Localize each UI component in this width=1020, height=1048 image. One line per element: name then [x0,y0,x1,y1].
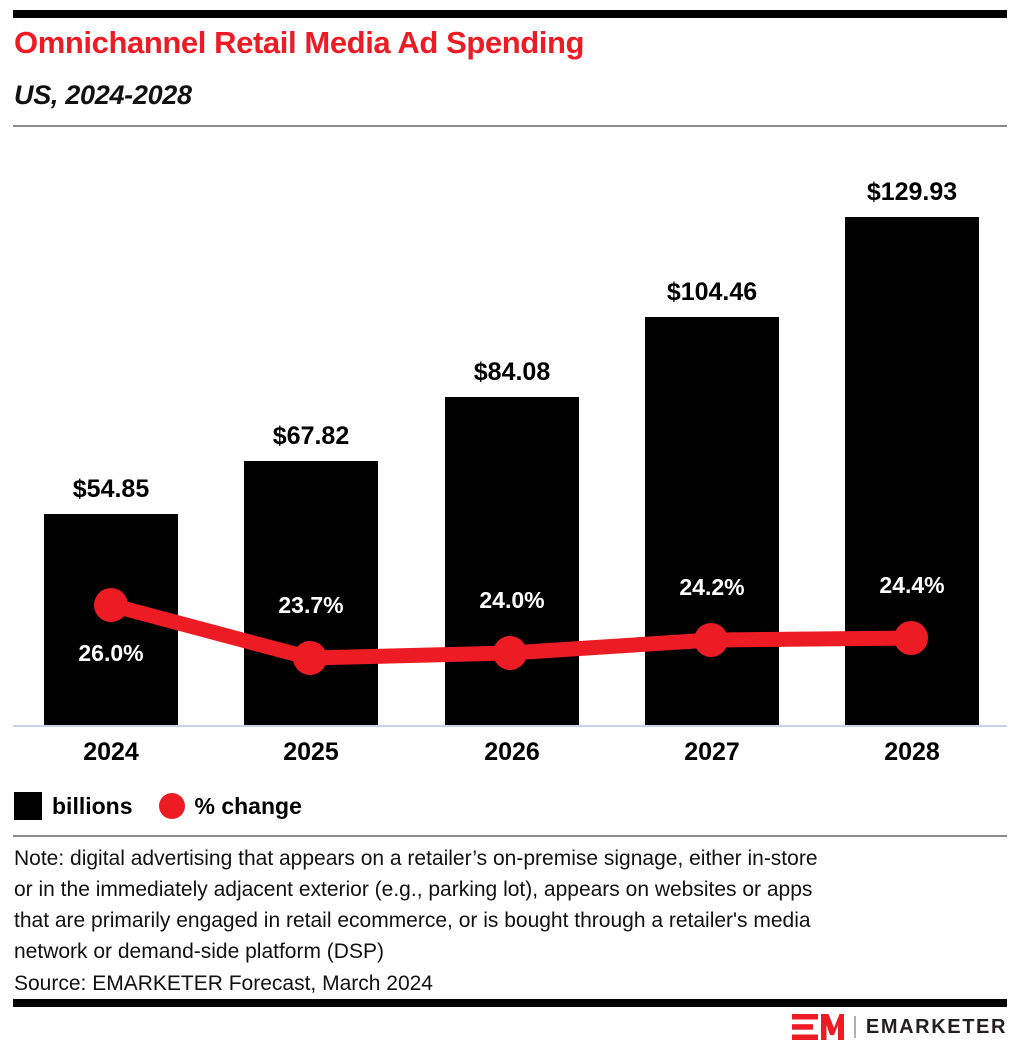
pct-label-2027: 24.2% [645,574,779,601]
x-tick-2028: 2028 [845,738,979,767]
pct-label-2028: 24.4% [845,572,979,599]
chart-plot-area: $54.85 $67.82 $84.08 $104.46 $129.93 26.… [0,150,1020,730]
pct-label-2025: 23.7% [244,592,378,619]
bar-2024 [44,514,178,726]
x-tick-2026: 2026 [445,738,579,767]
note-line-3: that are primarily engaged in retail eco… [14,905,1004,936]
bar-value-2026: $84.08 [445,358,579,387]
footer-divider [13,999,1007,1007]
legend-square-icon [14,792,42,820]
bar-2028 [845,217,979,726]
emarketer-brand: EMARKETER [792,1014,1007,1040]
bar-value-2025: $67.82 [244,422,378,451]
header-divider [13,125,1007,127]
source-line: Source: EMARKETER Forecast, March 2024 [14,968,1004,999]
chart-page: Omnichannel Retail Media Ad Spending US,… [0,0,1020,1048]
x-axis-line [13,725,1007,727]
brand-divider [854,1016,856,1038]
bar-2026 [445,397,579,726]
bar-value-2027: $104.46 [635,278,789,307]
legend-circle-icon [159,793,185,819]
note-line-1: Note: digital advertising that appears o… [14,843,1004,874]
bar-2027 [645,317,779,726]
legend-label-billions: billions [52,793,133,820]
note-line-4: network or demand-side platform (DSP) [14,936,1004,967]
pct-label-2024: 26.0% [44,640,178,667]
legend-label-pct-change: % change [195,793,302,820]
top-divider [13,10,1007,18]
bar-value-2028: $129.93 [835,178,989,207]
legend-item-pct-change: % change [159,793,302,820]
page-subtitle: US, 2024-2028 [14,80,192,111]
em-logo-icon [792,1014,844,1040]
x-tick-2025: 2025 [244,738,378,767]
page-title: Omnichannel Retail Media Ad Spending [14,25,584,61]
x-axis-labels: 2024 2025 2026 2027 2028 [0,738,1020,778]
legend-item-billions: billions [14,792,133,820]
notes-divider [13,835,1007,837]
chart-legend: billions % change [14,792,302,820]
x-tick-2024: 2024 [44,738,178,767]
brand-wordmark: EMARKETER [866,1016,1007,1039]
x-tick-2027: 2027 [645,738,779,767]
bar-value-2024: $54.85 [44,475,178,504]
note-line-2: or in the immediately adjacent exterior … [14,874,1004,905]
chart-notes: Note: digital advertising that appears o… [14,843,1004,999]
pct-label-2026: 24.0% [445,587,579,614]
